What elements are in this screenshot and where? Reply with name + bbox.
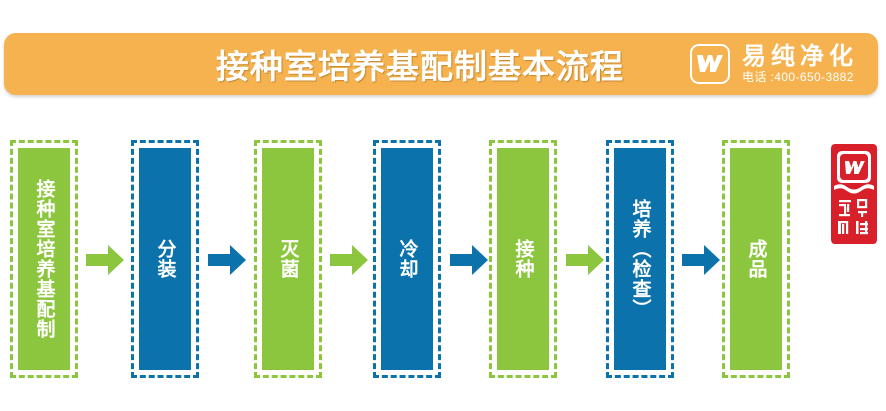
flow-arrow-5-icon [566, 245, 604, 275]
flow-step-5: 接种 [489, 140, 557, 378]
flow-step-6-label: 培养（检查） [630, 199, 651, 319]
flow-step-4-body: 冷却 [381, 148, 433, 370]
flow-step-7: 成品 [722, 140, 790, 378]
flow-step-1-body: 接种室培养基配制 [18, 148, 70, 370]
brand-phone: 电话 :400-650-3882 [742, 70, 858, 85]
flow-step-2-body: 分装 [139, 148, 191, 370]
flow-arrow-3-icon [330, 245, 368, 275]
flow-step-6-body: 培养（检查） [614, 148, 666, 370]
flow-step-4: 冷却 [373, 140, 441, 378]
brand-text: 易纯净化 电话 :400-650-3882 [742, 44, 858, 85]
flow-step-3-label: 灭菌 [278, 239, 299, 279]
flow-step-1-label: 接种室培养基配制 [34, 179, 55, 339]
flow-step-3: 灭菌 [254, 140, 322, 378]
flow-step-7-label: 成品 [746, 239, 767, 279]
flow-step-6: 培养（检查） [606, 140, 674, 378]
flow-step-4-label: 冷却 [397, 239, 418, 279]
red-stamp-seal-icon [829, 142, 879, 246]
flow-step-2: 分装 [131, 140, 199, 378]
flow-arrow-1-icon [86, 245, 124, 275]
flow-step-7-body: 成品 [730, 148, 782, 370]
brand-block: 易纯净化 电话 :400-650-3882 [690, 36, 880, 92]
flow-step-2-label: 分装 [155, 239, 176, 279]
page-title: 接种室培养基配制基本流程 [170, 36, 670, 92]
page-canvas: 接种室培养基配制基本流程 易纯净化 电话 :400-650-3882 接种室培养… [0, 0, 886, 411]
flow-arrow-2-icon [208, 245, 246, 275]
flow-arrow-6-icon [682, 245, 720, 275]
flow-arrow-4-icon [450, 245, 488, 275]
w-mark-logo-icon [690, 44, 730, 84]
flow-step-3-body: 灭菌 [262, 148, 314, 370]
flow-step-5-label: 接种 [513, 239, 534, 279]
brand-name: 易纯净化 [742, 44, 858, 70]
process-flow: 接种室培养基配制 分装 灭菌 [0, 140, 886, 385]
flow-step-1: 接种室培养基配制 [10, 140, 78, 378]
flow-step-5-body: 接种 [497, 148, 549, 370]
